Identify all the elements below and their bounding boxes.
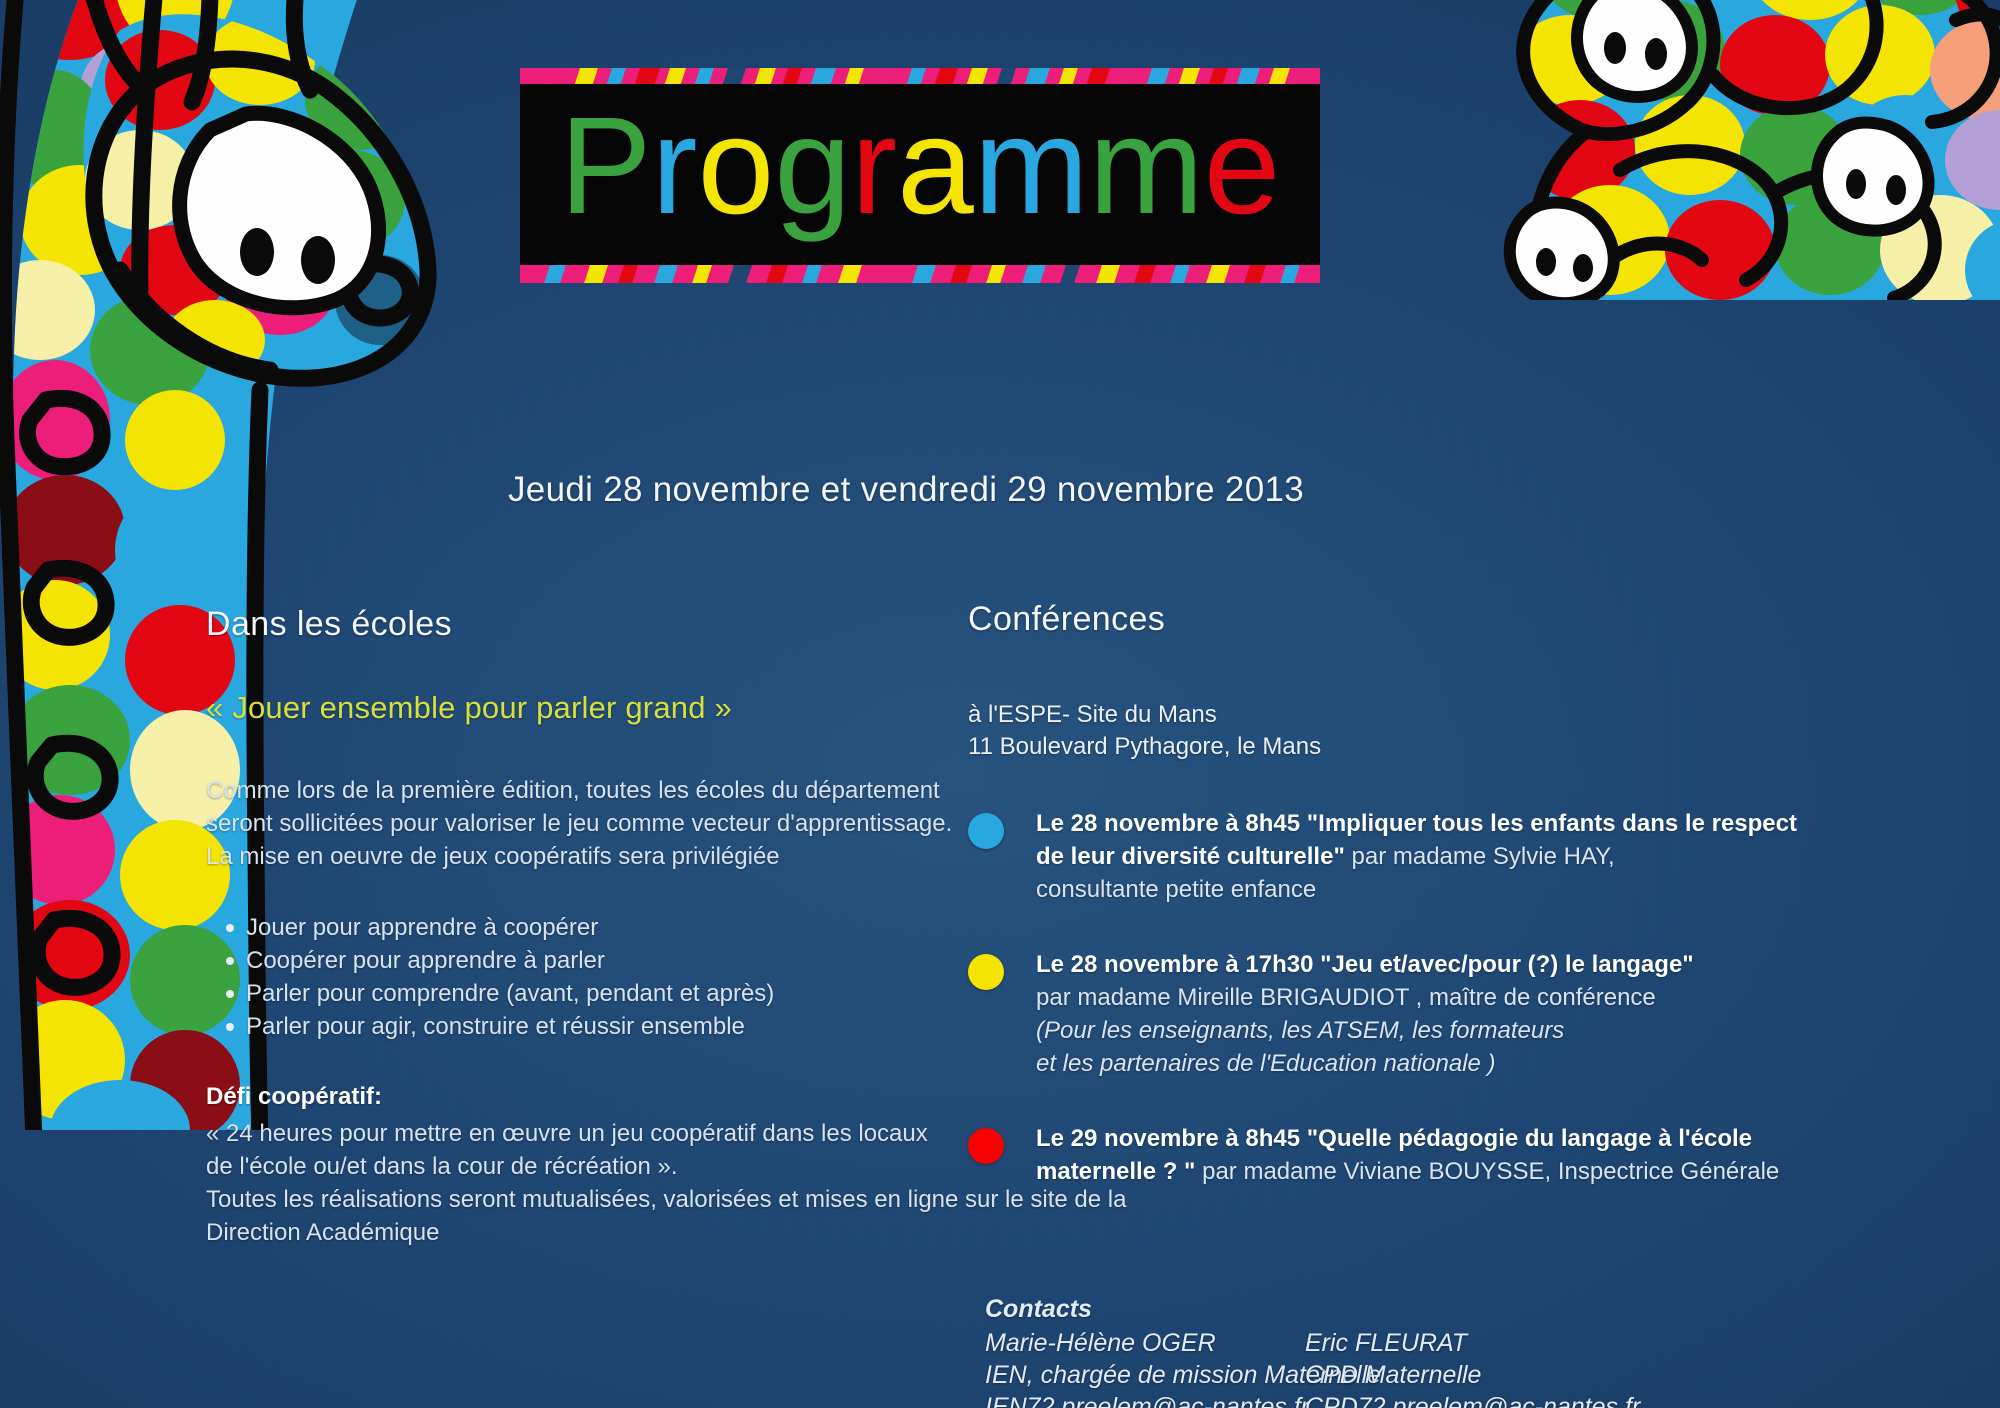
event-dateline: Jeudi 28 novembre et vendredi 29 novembr… — [508, 470, 1304, 510]
conferences-heading: Conférences — [968, 600, 1868, 639]
conference-speaker-text: par madame Mireille BRIGAUDIOT , maître … — [1036, 984, 1656, 1011]
conference-title-text: de leur diversité culturelle" — [1036, 843, 1345, 870]
challenge-line: Direction Académique — [206, 1216, 946, 1249]
poster-root: Programme — [0, 0, 2000, 1408]
conference-title-text: maternelle ? " — [1036, 1158, 1195, 1185]
contact-person-1: Marie-Hélène OGER IEN, chargée de missio… — [985, 1327, 1305, 1408]
list-item: Parler pour comprendre (avant, pendant e… — [206, 977, 946, 1010]
venue-line: à l'ESPE- Site du Mans — [968, 699, 1868, 731]
contacts-block: Contacts Marie-Hélène OGER IEN, chargée … — [985, 1295, 1965, 1408]
conference-line: de leur diversité culturelle" par madame… — [1036, 840, 1868, 873]
paragraph-line: Comme lors de la première édition, toute… — [206, 774, 946, 807]
contact-role: CPD Maternelle — [1305, 1359, 1640, 1391]
giraffe-artwork-right — [1370, 0, 2000, 300]
bullet-dot-red-icon — [968, 1128, 1004, 1164]
list-item: Jouer pour apprendre à coopérer — [206, 911, 946, 944]
conference-item: Le 29 novembre à 8h45 "Quelle pédagogie … — [968, 1122, 1868, 1188]
conference-line: Le 28 novembre à 8h45 "Impliquer tous le… — [1036, 807, 1868, 840]
list-item: Parler pour agir, construire et réussir … — [206, 1010, 946, 1043]
conference-speaker-text: par madame Sylvie HAY, — [1345, 843, 1615, 870]
conference-speaker-text: par madame Viviane BOUYSSE, Inspectrice … — [1195, 1158, 1779, 1185]
conference-line: Le 28 novembre à 17h30 "Jeu et/avec/pour… — [1036, 948, 1868, 981]
conference-line: (Pour les enseignants, les ATSEM, les fo… — [1036, 1014, 1868, 1047]
conference-line: par madame Mireille BRIGAUDIOT , maître … — [1036, 981, 1868, 1014]
conference-title-text: Le 28 novembre à 17h30 "Jeu et/avec/pour… — [1036, 951, 1694, 978]
conference-speaker-text: consultante petite enfance — [1036, 876, 1316, 903]
contact-email[interactable]: IEN72.preelem@ac-nantes.fr — [985, 1391, 1305, 1408]
conference-title-text: Le 29 novembre à 8h45 "Quelle pédagogie … — [1036, 1125, 1752, 1152]
conference-line: et les partenaires de l'Education nation… — [1036, 1047, 1868, 1080]
schools-column: Dans les écoles « Jouer ensemble pour pa… — [206, 605, 946, 1249]
challenge-line: de l'école ou/et dans la cour de récréat… — [206, 1150, 946, 1183]
conference-line: maternelle ? " par madame Viviane BOUYSS… — [1036, 1155, 1868, 1188]
challenge-line: « 24 heures pour mettre en œuvre un jeu … — [206, 1117, 946, 1150]
contact-email[interactable]: CPD72.preelem@ac-nantes.fr — [1305, 1391, 1640, 1408]
schools-heading: Dans les écoles — [206, 605, 946, 644]
conference-title-text: Le 28 novembre à 8h45 "Impliquer tous le… — [1036, 810, 1797, 837]
bullet-dot-blue-icon — [968, 813, 1004, 849]
paragraph-line: seront sollicitées pour valoriser le jeu… — [206, 807, 946, 840]
schools-bullet-list: Jouer pour apprendre à coopérer Coopérer… — [206, 911, 946, 1043]
contacts-title: Contacts — [985, 1295, 1965, 1324]
contact-role: IEN, chargée de mission Maternelle — [985, 1359, 1305, 1391]
title-banner: Programme — [520, 68, 1320, 283]
contact-name: Eric FLEURAT — [1305, 1327, 1640, 1359]
conferences-column: Conférences à l'ESPE- Site du Mans 11 Bo… — [968, 600, 1868, 1230]
conference-line: consultante petite enfance — [1036, 873, 1868, 906]
conference-item: Le 28 novembre à 8h45 "Impliquer tous le… — [968, 807, 1868, 906]
banner-stripes-bottom — [520, 265, 1320, 283]
venue-line: 11 Boulevard Pythagore, le Mans — [968, 731, 1868, 763]
conference-line: Le 29 novembre à 8h45 "Quelle pédagogie … — [1036, 1122, 1868, 1155]
schools-paragraph: Comme lors de la première édition, toute… — [206, 774, 946, 873]
contact-name: Marie-Hélène OGER — [985, 1327, 1305, 1359]
challenge-line: Toutes les réalisations seront mutualisé… — [206, 1183, 946, 1216]
conference-item: Le 28 novembre à 17h30 "Jeu et/avec/pour… — [968, 948, 1868, 1080]
bullet-dot-yellow-icon — [968, 954, 1004, 990]
conference-audience-note: (Pour les enseignants, les ATSEM, les fo… — [1036, 1017, 1564, 1044]
schools-slogan: « Jouer ensemble pour parler grand » — [206, 690, 946, 726]
contact-person-2: Eric FLEURAT CPD Maternelle CPD72.preele… — [1305, 1327, 1640, 1408]
svg-text:Programme: Programme — [560, 101, 1281, 243]
paragraph-line: La mise en oeuvre de jeux coopératifs se… — [206, 840, 946, 873]
challenge-body: « 24 heures pour mettre en œuvre un jeu … — [206, 1117, 946, 1249]
conference-audience-note: et les partenaires de l'Education nation… — [1036, 1050, 1496, 1077]
poster-title: Programme — [520, 84, 1320, 267]
conference-list: Le 28 novembre à 8h45 "Impliquer tous le… — [968, 807, 1868, 1188]
challenge-heading: Défi coopératif: — [206, 1083, 946, 1111]
list-item: Coopérer pour apprendre à parler — [206, 944, 946, 977]
conference-venue: à l'ESPE- Site du Mans 11 Boulevard Pyth… — [968, 699, 1868, 763]
